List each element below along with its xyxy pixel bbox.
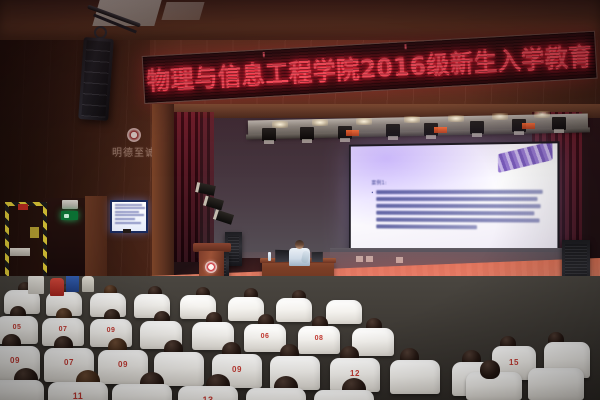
exit-sign-icon (61, 211, 78, 220)
wall-socket (396, 257, 403, 263)
led-pixel (263, 52, 265, 57)
seat-number: 06 (244, 333, 286, 340)
seat: 11 (48, 382, 108, 400)
seat-number: 09 (90, 327, 132, 334)
wall-socket (356, 256, 363, 262)
stage-light-glow (404, 116, 420, 123)
slide-content: 案例1: • (372, 178, 543, 232)
projected-slide: 案例1: • (351, 143, 558, 254)
stage-light-fixture (300, 127, 314, 140)
slide-bullet-item: • (372, 190, 543, 233)
monitor-text-line (115, 211, 139, 213)
stage-light-fixture (470, 121, 484, 134)
ceiling-panel (161, 2, 204, 20)
warning-sign (18, 204, 28, 210)
seat: 06 (244, 324, 286, 352)
stage-light-gel (346, 130, 359, 136)
audience-seating: 05 07 09 06 08 09 07 (0, 276, 600, 400)
school-crest-icon (205, 261, 217, 273)
wall-plate (30, 227, 39, 238)
seat-number: 09 (0, 356, 40, 365)
standing-attendee (82, 276, 94, 292)
stage-light-glow (356, 118, 372, 125)
seat (314, 390, 374, 400)
emergency-light-box (62, 200, 78, 209)
proscenium-pillar-left (152, 104, 174, 304)
seat-number: 08 (298, 335, 340, 342)
water-bottle (268, 252, 271, 261)
slide-text-line (376, 197, 537, 201)
slide-text-line (376, 218, 539, 223)
slide-text-line (376, 224, 477, 229)
seat (326, 300, 362, 324)
stage-light-fixture (552, 117, 566, 130)
laptop (312, 252, 323, 262)
seat-number: 12 (330, 369, 380, 378)
monitor-text-line (115, 218, 135, 220)
monitor-text-line (115, 214, 144, 216)
slide-ribbon-graphic (498, 143, 553, 173)
bullet-marker: • (372, 190, 374, 231)
stage-light-glow (448, 115, 464, 122)
monitor-text-line (115, 204, 142, 206)
monitor-screen (112, 202, 146, 231)
stage-curtain-left (200, 112, 214, 252)
slide-text-line (376, 204, 541, 208)
stage-light-glow (312, 119, 328, 126)
monitor-text-line (115, 222, 141, 224)
seat-number: 05 (0, 324, 38, 331)
stage-light-gel (434, 127, 447, 133)
slide-text-line (376, 190, 543, 194)
seat (112, 384, 172, 400)
stage-light-fixture (262, 128, 276, 141)
line-array-speaker (78, 37, 114, 121)
university-crest-icon (127, 128, 141, 142)
monitor-stand (123, 229, 131, 233)
wall-socket (366, 256, 373, 262)
presenter-head (295, 240, 304, 249)
seat-number: 07 (42, 326, 84, 333)
stage-light-fixture (386, 124, 400, 137)
projection-screen: 案例1: • (349, 141, 560, 257)
wall-sign (10, 248, 30, 256)
seat (276, 298, 312, 322)
stage-light-glow (534, 111, 550, 118)
seat (390, 360, 440, 394)
slide-heading: 案例1: (372, 178, 543, 186)
seat (246, 388, 306, 400)
monitor-text-line (115, 207, 145, 209)
seat (528, 368, 584, 400)
presenter (288, 240, 310, 266)
stage-light-gel (522, 123, 535, 129)
seat (0, 380, 44, 400)
seat: 08 (298, 326, 340, 354)
audience-head (480, 360, 500, 379)
standing-attendee (28, 276, 44, 294)
auditorium-photo: 明德至诚 物理与信息工程学院2016级新生入学教育 (0, 0, 600, 400)
standing-attendee (50, 278, 64, 296)
seat-number: 11 (48, 391, 108, 400)
slide-text-line (376, 211, 534, 216)
seat: 13 (178, 386, 238, 400)
seat-number: 09 (212, 365, 262, 374)
led-pixel (404, 44, 406, 49)
stage-light-glow (272, 121, 288, 128)
seat-number: 09 (98, 360, 148, 369)
seat-number: 07 (44, 358, 94, 367)
standing-attendee (66, 276, 79, 292)
stage-light-glow (492, 113, 508, 120)
seat-number: 13 (178, 395, 238, 400)
